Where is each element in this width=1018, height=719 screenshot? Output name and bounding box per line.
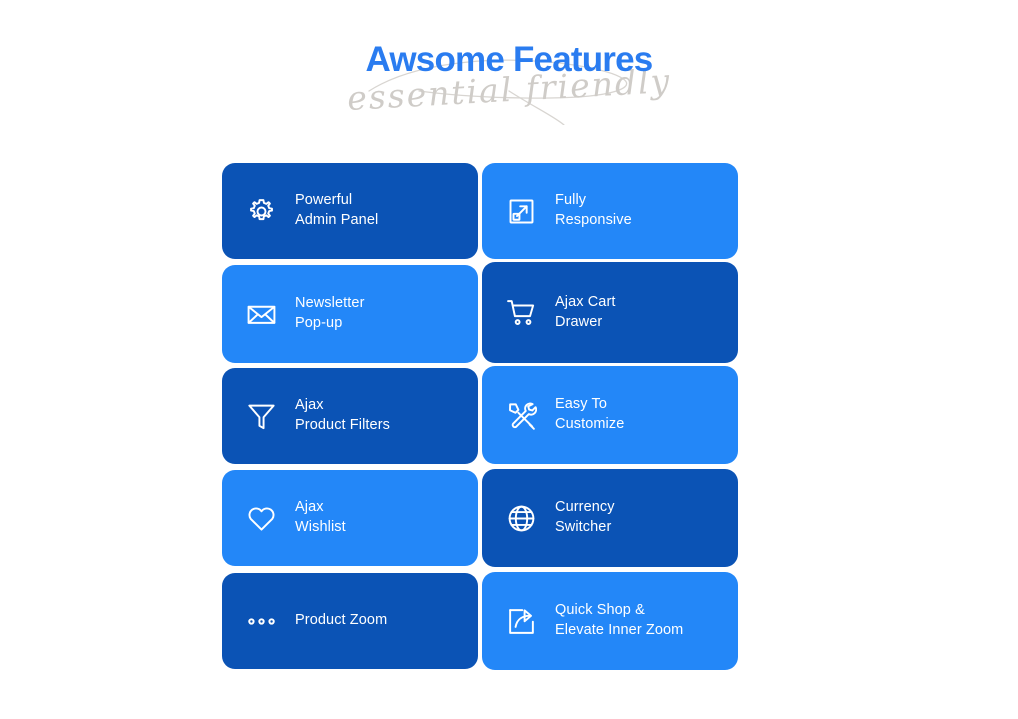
feature-card-ajax-wishlist[interactable]: Ajax Wishlist <box>222 470 478 566</box>
expand-arrow-icon <box>504 194 538 228</box>
feature-card-label: Ajax Wishlist <box>295 498 346 537</box>
feature-card-powerful-admin-panel[interactable]: Powerful Admin Panel <box>222 163 478 259</box>
three-dots-icon <box>244 604 278 638</box>
page-header: Awsome Features essential friendly <box>0 42 1018 129</box>
funnel-filter-icon <box>244 399 278 433</box>
features-page: Awsome Features essential friendly Power… <box>0 0 1018 719</box>
feature-card-label: Product Zoom <box>295 611 387 631</box>
feature-card-currency-switcher[interactable]: Currency Switcher <box>482 469 738 567</box>
heart-icon <box>244 501 278 535</box>
tools-icon <box>504 398 538 432</box>
feature-card-label: Ajax Cart Drawer <box>555 293 616 332</box>
subtitle-container: essential friendly <box>0 73 1018 129</box>
feature-card-label: Easy To Customize <box>555 395 624 434</box>
feature-card-grid: Powerful Admin Panel Fully Responsive <box>222 163 738 670</box>
feature-card-label: Fully Responsive <box>555 191 632 230</box>
feature-card-fully-responsive[interactable]: Fully Responsive <box>482 163 738 259</box>
feature-card-quick-shop-elevate-inner-zoom[interactable]: Quick Shop & Elevate Inner Zoom <box>482 572 738 670</box>
globe-icon <box>504 501 538 535</box>
share-export-icon <box>504 604 538 638</box>
shopping-cart-icon <box>504 296 538 330</box>
feature-card-label: Currency Switcher <box>555 498 615 537</box>
feature-card-product-zoom[interactable]: Product Zoom <box>222 573 478 669</box>
feature-card-label: Newsletter Pop-up <box>295 294 365 333</box>
envelope-icon <box>244 297 278 331</box>
feature-card-ajax-product-filters[interactable]: Ajax Product Filters <box>222 368 478 464</box>
feature-card-easy-to-customize[interactable]: Easy To Customize <box>482 366 738 464</box>
gear-icon <box>244 194 278 228</box>
feature-card-ajax-cart-drawer[interactable]: Ajax Cart Drawer <box>482 262 738 363</box>
feature-card-label: Powerful Admin Panel <box>295 191 378 230</box>
feature-card-label: Ajax Product Filters <box>295 396 390 435</box>
feature-card-newsletter-popup[interactable]: Newsletter Pop-up <box>222 265 478 363</box>
feature-card-label: Quick Shop & Elevate Inner Zoom <box>555 601 683 640</box>
page-title: Awsome Features <box>0 42 1018 79</box>
